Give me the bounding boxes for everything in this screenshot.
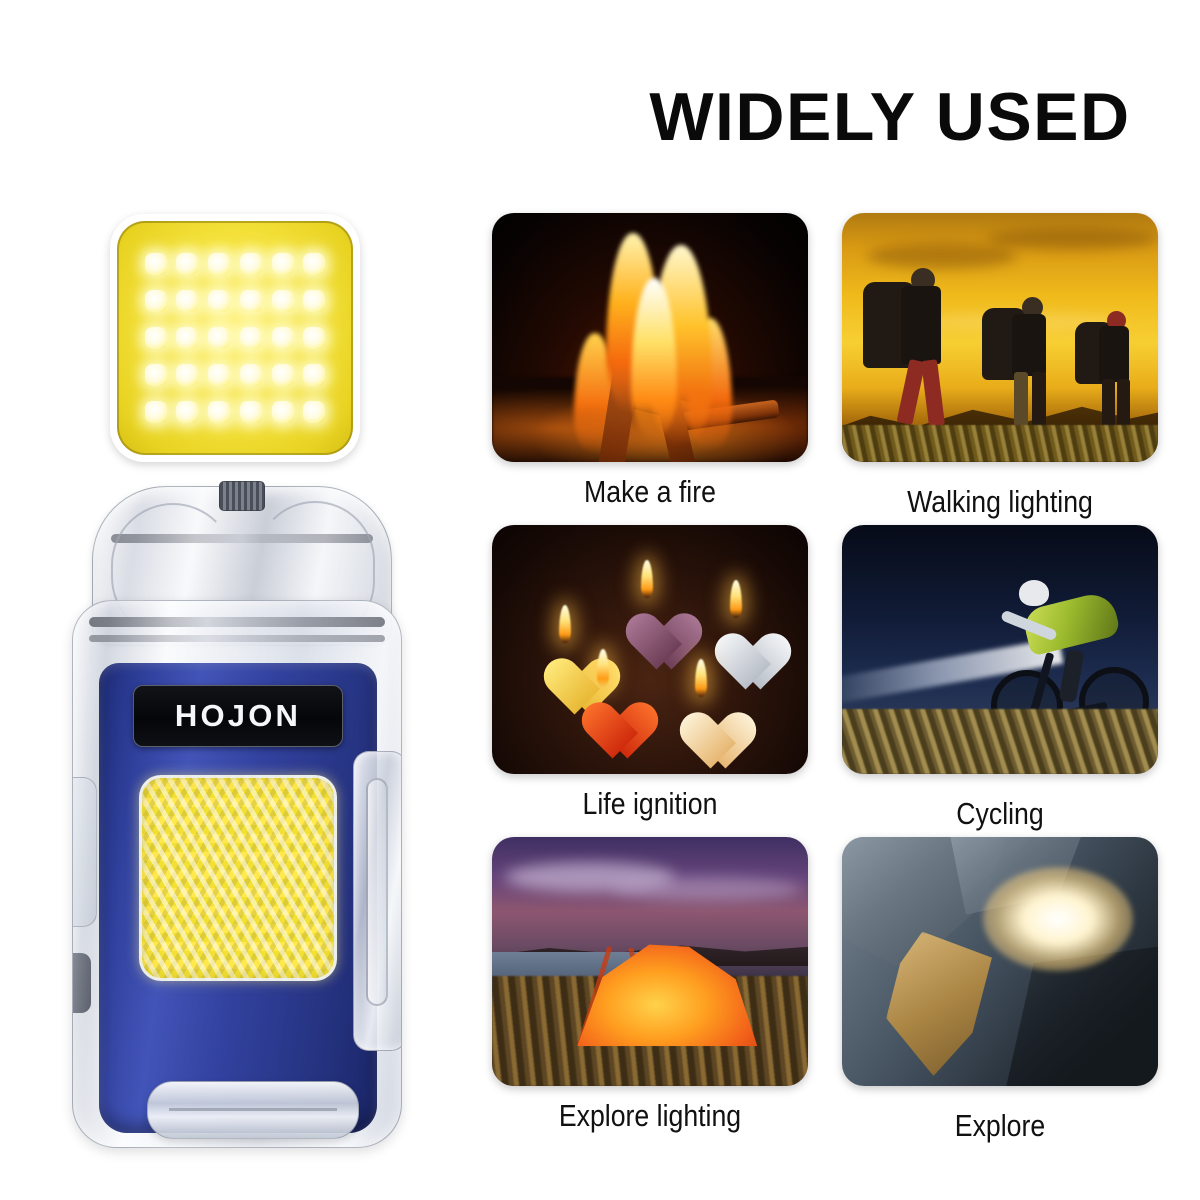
- led-dot-grid: [140, 246, 330, 430]
- leg: [1032, 372, 1046, 426]
- led-dot: [145, 327, 167, 349]
- clip-groove: [366, 778, 388, 1006]
- led-dot: [145, 401, 167, 423]
- led-dot: [176, 253, 198, 275]
- thumbnail-cyclist[interactable]: [842, 525, 1158, 774]
- thumbnail-hikers[interactable]: [842, 213, 1158, 462]
- side-latch-left: [72, 777, 97, 927]
- use-case-walking-lighting[interactable]: Walking lighting: [842, 213, 1158, 520]
- carabiner-clip: [353, 751, 402, 1051]
- led-dot: [208, 401, 230, 423]
- rider-helmet: [1019, 580, 1049, 606]
- bottom-hinge: [147, 1081, 359, 1139]
- caption-explore: Explore: [864, 1108, 1136, 1144]
- candle: [666, 689, 736, 751]
- torso: [1099, 326, 1129, 382]
- use-case-explore[interactable]: Explore: [842, 837, 1158, 1144]
- thumbnail-tent[interactable]: [492, 837, 808, 1086]
- led-dot: [272, 364, 294, 386]
- thumbnail-campfire[interactable]: [492, 213, 808, 462]
- led-dot: [208, 364, 230, 386]
- heart-shape: [666, 689, 736, 751]
- caption-make-a-fire: Make a fire: [514, 474, 786, 510]
- led-dot: [272, 401, 294, 423]
- housing-seam: [89, 635, 384, 642]
- cloud: [867, 243, 1017, 269]
- thumbnail-candles[interactable]: [492, 525, 808, 774]
- leg: [1102, 379, 1115, 427]
- led-dot: [176, 290, 198, 312]
- led-dot: [208, 327, 230, 349]
- leg: [896, 359, 925, 425]
- caption-cycling: Cycling: [864, 796, 1136, 832]
- lighter-housing: HOJON: [72, 600, 402, 1148]
- leg: [921, 359, 945, 426]
- led-dot: [303, 364, 325, 386]
- light-glow: [983, 867, 1133, 971]
- led-dot: [240, 401, 262, 423]
- torso: [901, 286, 941, 364]
- led-dot: [176, 401, 198, 423]
- hinge-line: [169, 1108, 337, 1111]
- led-dot: [303, 290, 325, 312]
- caption-explore-lighting: Explore lighting: [514, 1098, 786, 1134]
- thumbnail-cave[interactable]: [842, 837, 1158, 1086]
- side-notch: [72, 953, 91, 1013]
- led-dot: [145, 253, 167, 275]
- led-dot: [208, 290, 230, 312]
- led-dot: [303, 327, 325, 349]
- cob-led-panel: [139, 775, 337, 981]
- led-dot: [240, 327, 262, 349]
- led-dot: [272, 327, 294, 349]
- candle: [701, 610, 771, 672]
- brand-name: HOJON: [175, 698, 301, 734]
- led-dot: [176, 364, 198, 386]
- roadside-brush: [842, 709, 1158, 774]
- led-dot: [240, 253, 262, 275]
- heart-shape: [612, 590, 682, 652]
- led-dot: [145, 290, 167, 312]
- caption-walking-lighting: Walking lighting: [864, 484, 1136, 520]
- torso: [1012, 314, 1046, 376]
- led-dot: [272, 253, 294, 275]
- use-case-life-ignition[interactable]: Life ignition: [492, 525, 808, 822]
- led-dot: [176, 327, 198, 349]
- led-dot: [240, 290, 262, 312]
- heart-shape: [568, 679, 638, 741]
- led-panel-surface: [117, 221, 353, 455]
- grass: [842, 425, 1158, 462]
- leg: [1014, 372, 1028, 426]
- caption-life-ignition: Life ignition: [514, 786, 786, 822]
- cloud: [612, 877, 802, 901]
- led-dot: [240, 364, 262, 386]
- led-dot: [303, 253, 325, 275]
- leg: [1117, 379, 1130, 427]
- housing-seam: [89, 617, 384, 627]
- lighter-blue-body: HOJON: [99, 663, 377, 1133]
- cloud: [987, 228, 1157, 250]
- candle: [612, 590, 682, 652]
- waterproof-arc-lighter: HOJON: [30, 468, 450, 1168]
- candle: [568, 679, 638, 741]
- use-case-gallery: Make a fire: [470, 180, 1200, 1180]
- product-feature-page: WIDELY USED: [0, 0, 1200, 1200]
- ignition-coil-icon: [219, 481, 265, 511]
- use-case-make-a-fire[interactable]: Make a fire: [492, 213, 808, 510]
- led-dot: [272, 290, 294, 312]
- heart-shape: [701, 610, 771, 672]
- brand-label-plate: HOJON: [133, 685, 343, 747]
- led-dot: [303, 401, 325, 423]
- led-dot: [208, 253, 230, 275]
- product-showcase: HOJON: [0, 0, 470, 1200]
- use-case-cycling[interactable]: Cycling: [842, 525, 1158, 832]
- led-dot: [145, 364, 167, 386]
- page-title: WIDELY USED: [600, 78, 1180, 156]
- led-light-panel: [110, 214, 360, 462]
- use-case-explore-lighting[interactable]: Explore lighting: [492, 837, 808, 1134]
